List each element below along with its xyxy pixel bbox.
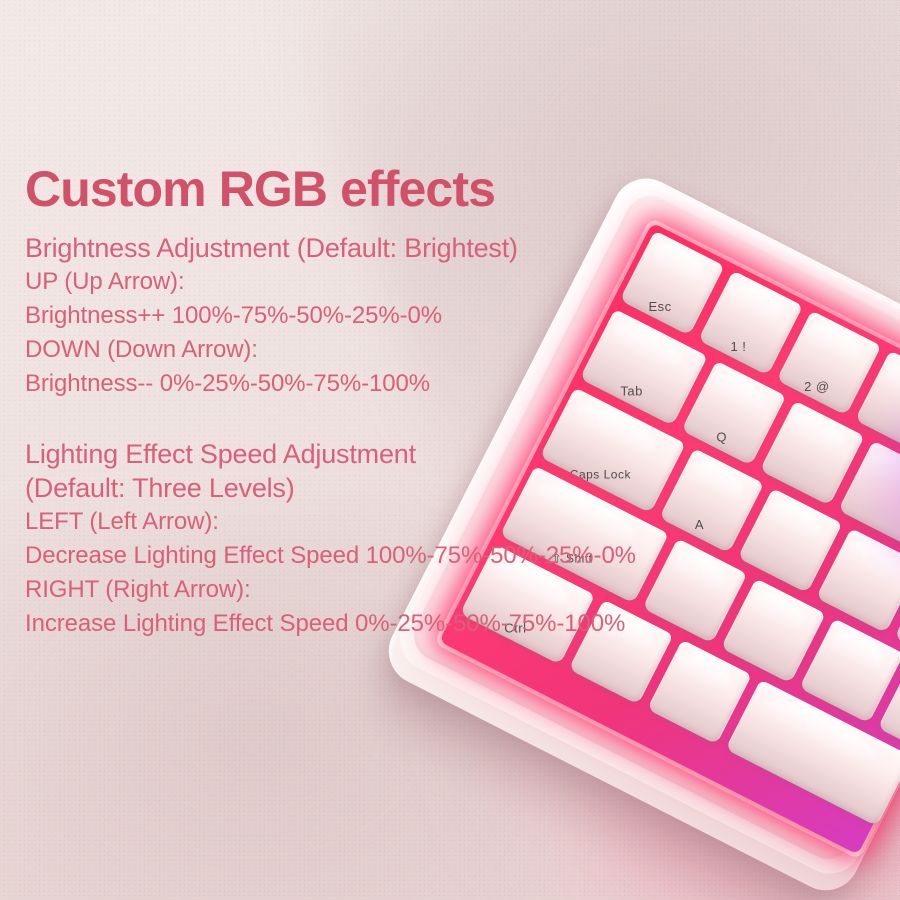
- page-title: Custom RGB effects: [25, 164, 705, 215]
- key-2-legend: 2 @: [778, 379, 856, 394]
- section-speed-line-3: RIGHT (Right Arrow):: [25, 573, 705, 607]
- section-speed-line-2: Decrease Lighting Effect Speed 100%-75%-…: [25, 539, 705, 573]
- copy-column: Custom RGB effects Brightness Adjustment…: [25, 164, 705, 641]
- section-brightness-line-1: UP (Up Arrow):: [25, 265, 705, 299]
- section-brightness-heading: Brightness Adjustment (Default: Brightes…: [25, 231, 705, 265]
- section-brightness-line-3: DOWN (Down Arrow):: [25, 333, 705, 367]
- section-speed-heading-line-1: Lighting Effect Speed Adjustment: [25, 437, 705, 471]
- section-lighting-effect-speed: Lighting Effect Speed Adjustment (Defaul…: [25, 437, 705, 641]
- section-speed-line-4: Increase Lighting Effect Speed 0%-25%-50…: [25, 607, 705, 641]
- section-brightness-line-2: Brightness++ 100%-75%-50%-25%-0%: [25, 299, 705, 333]
- promo-image-root: Esc 1 ! 2 @ Tab Q Caps Lock A: [0, 0, 900, 900]
- key-1-legend: 1 !: [700, 339, 778, 354]
- section-brightness-line-4: Brightness-- 0%-25%-50%-75%-100%: [25, 367, 705, 401]
- section-speed-heading-line-2: (Default: Three Levels): [25, 471, 705, 505]
- section-speed-line-1: LEFT (Left Arrow):: [25, 505, 705, 539]
- section-brightness-adjustment: Brightness Adjustment (Default: Brightes…: [25, 231, 705, 401]
